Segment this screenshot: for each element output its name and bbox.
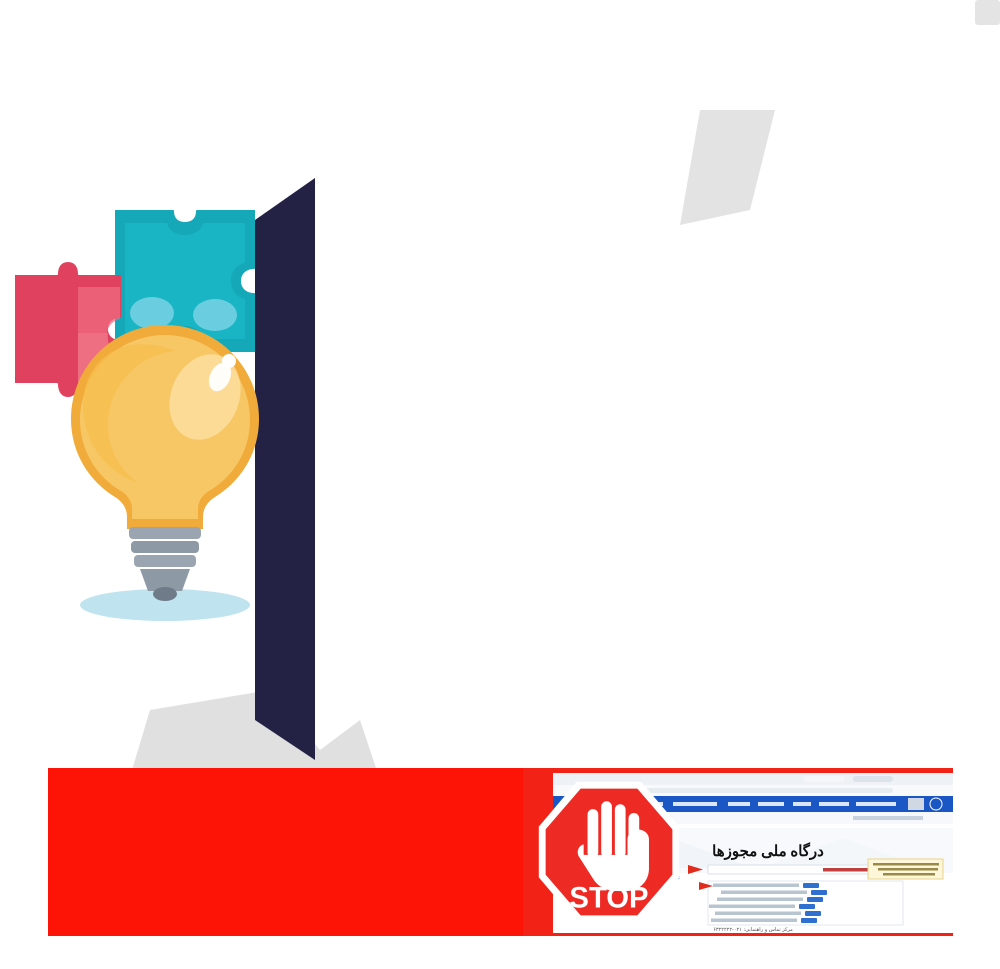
stop-sign: STOP (531, 774, 687, 930)
watermark-square (975, 0, 1000, 25)
svg-text:مرکز تماس و راهنمایی: ۰۲۱-۶۳۲۲: مرکز تماس و راهنمایی: ۰۲۱-۶۳۲۲۲۲۲ (713, 927, 793, 933)
bottom-note-screenshot-panel: درگاه ملی مجوزها کسب و کار (523, 768, 953, 936)
stop-label: STOP (569, 883, 648, 915)
infographic-canvas: درگاه ملی مجوزها کسب و کار (0, 0, 1000, 969)
steps-list (255, 178, 1000, 760)
bottom-note: درگاه ملی مجوزها کسب و کار (48, 768, 953, 936)
illustration-bulb-puzzle (0, 165, 300, 645)
bottom-note-text (48, 768, 523, 936)
lightbulb-icon (71, 325, 259, 601)
svg-text:درگاه ملی مجوزها: درگاه ملی مجوزها (712, 842, 824, 860)
